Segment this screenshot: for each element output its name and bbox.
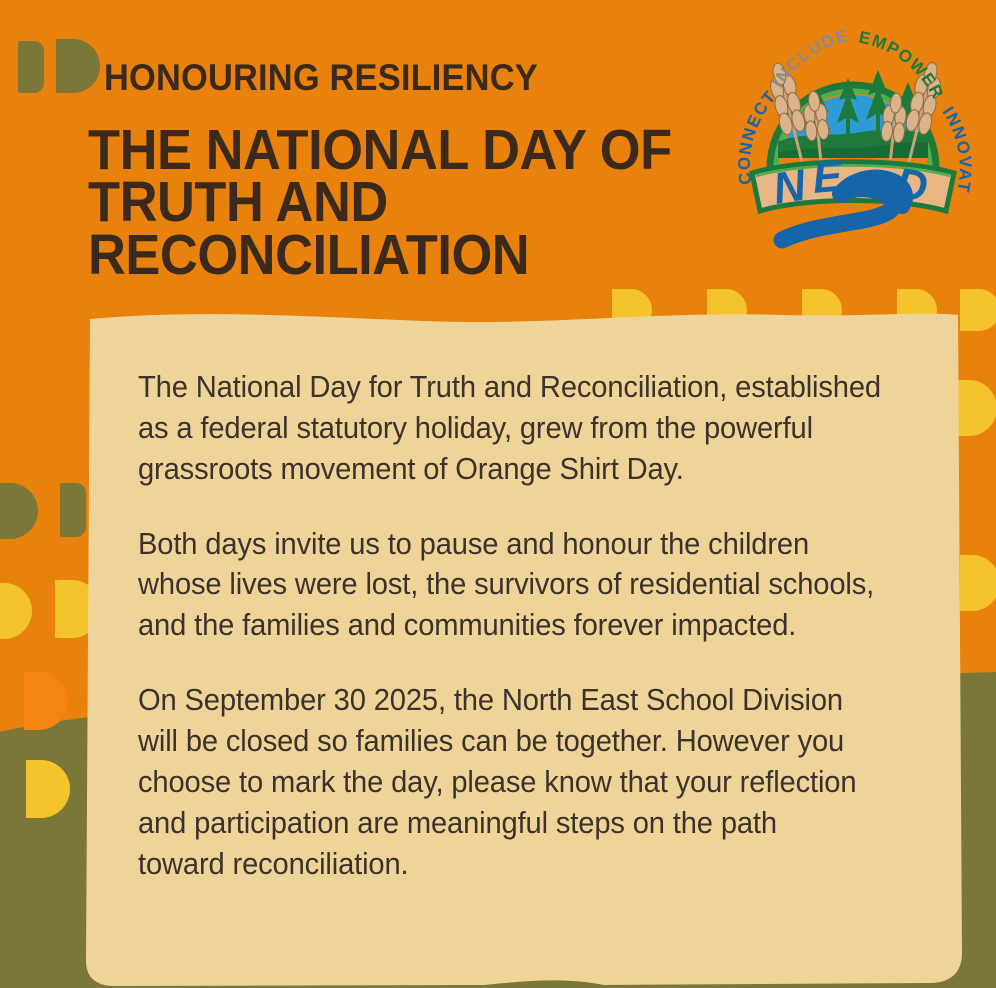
decorative-blob-left <box>24 672 68 730</box>
card-paragraph: Both days invite us to pause and honour … <box>138 524 902 647</box>
card-paragraph: On September 30 2025, the North East Sch… <box>138 680 902 884</box>
page-title: THE NATIONAL DAY OF TRUTH AND RECONCILIA… <box>88 124 672 281</box>
poster-canvas: HONOURING RESILIENCY THE NATIONAL DAY OF… <box>0 0 996 988</box>
kicker-text: HONOURING RESILIENCY <box>104 57 538 99</box>
decorative-blob-left <box>26 760 70 818</box>
card-body-text: The National Day for Truth and Reconcili… <box>138 367 902 884</box>
logo-letter-d: D <box>893 159 931 212</box>
logo-letter-e: E <box>811 151 846 203</box>
card-paragraph: The National Day for Truth and Reconcili… <box>138 367 902 490</box>
message-card: The National Day for Truth and Reconcili… <box>84 305 964 988</box>
logo-arc-include: INCLUDE <box>768 26 850 91</box>
nesd-logo: N E S D CONNECT INCLUDE EMPOWER INNOVATE <box>722 18 984 266</box>
